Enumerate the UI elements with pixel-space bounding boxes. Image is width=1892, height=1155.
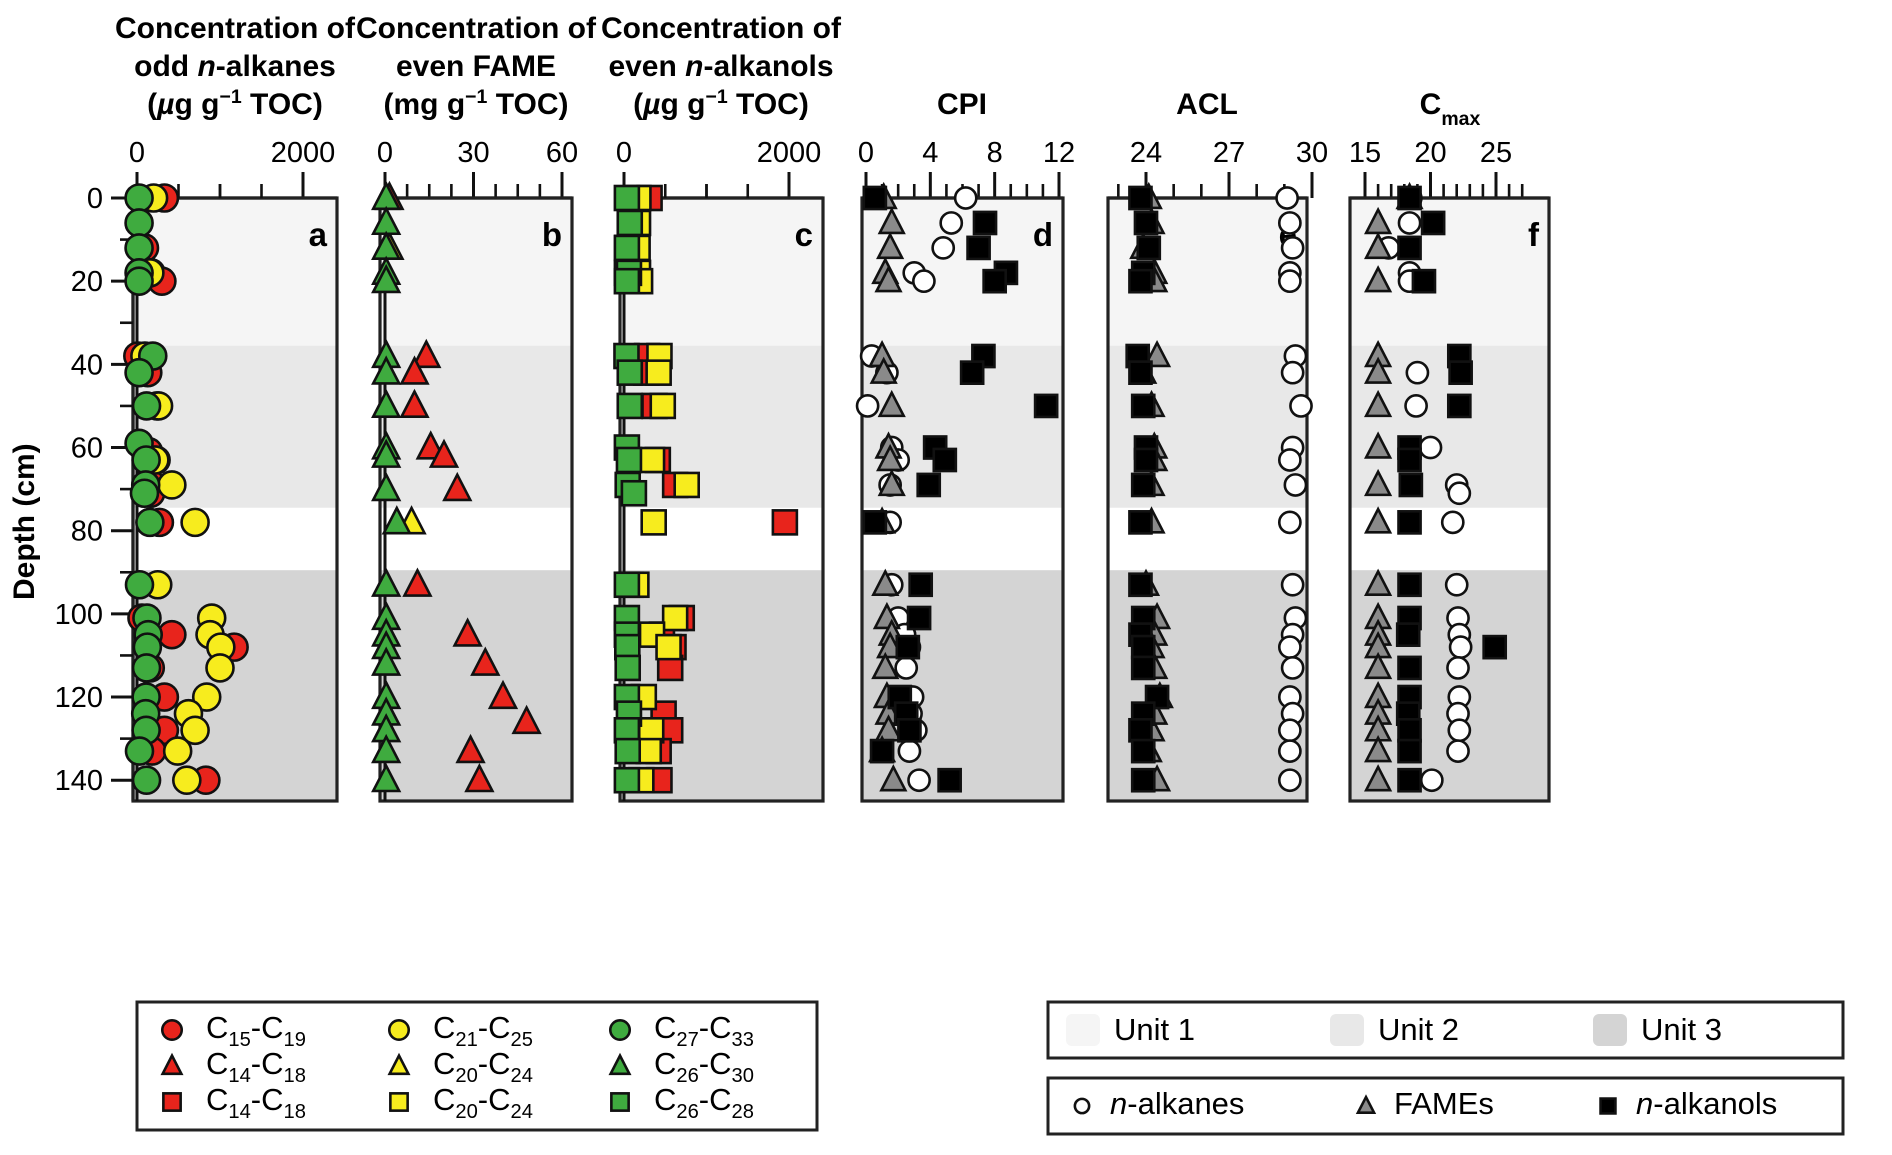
data-point-c-2-11 — [622, 481, 646, 505]
data-point-d-0-4 — [913, 271, 934, 292]
panel-title-line-c-2: (µg g−1 TOC) — [633, 86, 809, 121]
data-point-f-2-5 — [1450, 362, 1472, 384]
data-point-c-2-0 — [615, 186, 639, 210]
data-point-d-2-14 — [897, 636, 919, 658]
data-point-f-2-8 — [1399, 449, 1421, 471]
xtick-label-d-0: 0 — [858, 137, 874, 169]
data-point-c-2-9 — [617, 448, 641, 472]
data-point-e-0-15 — [1279, 637, 1300, 658]
data-point-a-2-21 — [126, 738, 153, 765]
panel-title-b: Concentration ofeven FAME(mg g−1 TOC) — [356, 12, 597, 121]
data-point-f-0-20 — [1421, 770, 1442, 791]
series-c-C26-C28 — [614, 186, 645, 792]
data-point-f-0-7 — [1420, 437, 1441, 458]
data-point-a-1-6 — [182, 509, 209, 536]
data-point-f-2-6 — [1448, 395, 1470, 417]
legend-marker-C21-C25-3 — [389, 1020, 408, 1039]
data-point-a-2-6 — [126, 359, 153, 386]
data-point-a-1-15 — [164, 738, 191, 765]
data-point-e-0-11 — [1279, 512, 1300, 533]
data-point-c-1-12 — [663, 606, 687, 630]
data-point-f-2-9 — [1400, 474, 1422, 496]
data-point-d-0-21 — [908, 770, 929, 791]
panel-title-line-a-0: Concentration of — [115, 12, 356, 45]
data-point-e-2-4 — [1129, 270, 1151, 292]
data-point-d-0-16 — [896, 657, 917, 678]
data-point-e-0-20 — [1279, 741, 1300, 762]
data-point-a-2-17 — [133, 654, 160, 681]
data-point-f-0-11 — [1446, 574, 1467, 595]
unit-band-b-3 — [380, 570, 572, 801]
data-point-e-2-12 — [1129, 574, 1151, 596]
xtick-label-f-15: 15 — [1349, 137, 1381, 169]
data-point-d-2-0 — [864, 187, 886, 209]
data-point-c-2-7 — [618, 394, 642, 418]
legend-proxy-marker-0 — [1075, 1099, 1089, 1113]
data-point-f-0-19 — [1447, 741, 1468, 762]
data-point-c-2-6 — [618, 361, 642, 385]
biomarker-depth-figure: 02000030600200004812242730152025Concentr… — [0, 0, 1892, 1155]
legend-marker-C26-C28-8 — [611, 1093, 628, 1110]
legend-marker-C15-C19-0 — [162, 1020, 181, 1039]
legend-marker-C27-C33-6 — [610, 1020, 629, 1039]
data-point-f-0-9 — [1449, 483, 1470, 504]
xtick-label-e-30: 30 — [1296, 137, 1328, 169]
data-point-d-2-12 — [910, 574, 932, 596]
xtick-label-f-25: 25 — [1480, 137, 1512, 169]
figure-root: 02000030600200004812242730152025Concentr… — [0, 0, 1892, 1155]
panel-title-line-b-0: Concentration of — [356, 12, 597, 45]
data-point-a-2-13 — [126, 571, 153, 598]
data-point-d-0-7 — [857, 395, 878, 416]
data-point-e-0-21 — [1279, 770, 1300, 791]
ytick-label-120: 120 — [55, 682, 103, 714]
legend-unit-label-0: Unit 1 — [1114, 1012, 1195, 1047]
panel-letter-b: b — [542, 216, 562, 253]
xtick-label-c-2000: 2000 — [757, 137, 822, 169]
data-point-e-2-7 — [1132, 395, 1154, 417]
data-point-c-2-21 — [615, 768, 639, 792]
panel-title-line-a-1: odd n-alkanes — [134, 50, 336, 83]
data-point-f-2-20 — [1399, 769, 1421, 791]
data-point-c-1-10 — [642, 510, 666, 534]
data-point-d-0-2 — [933, 237, 954, 258]
data-point-a-2-2 — [126, 234, 153, 261]
data-point-f-0-6 — [1406, 395, 1427, 416]
data-point-a-2-9 — [133, 446, 160, 473]
panel-title-line-d-0: CPI — [937, 88, 987, 121]
data-point-e-0-7 — [1290, 395, 1311, 416]
data-point-c-2-4 — [615, 269, 639, 293]
panel-letter-a: a — [309, 216, 328, 253]
data-point-e-0-19 — [1279, 720, 1300, 741]
xtick-label-e-24: 24 — [1130, 137, 1162, 169]
data-point-f-0-5 — [1407, 362, 1428, 383]
legend-marker-C14-C18-2 — [163, 1093, 180, 1110]
data-point-f-2-14 — [1484, 636, 1506, 658]
legend-proxy-marker-2 — [1601, 1099, 1616, 1114]
data-point-f-2-18 — [1399, 719, 1421, 741]
data-point-f-2-15 — [1399, 657, 1421, 679]
legend-proxy-label-0: n-alkanes — [1110, 1086, 1244, 1121]
data-point-f-2-19 — [1399, 740, 1421, 762]
data-point-d-0-20 — [899, 741, 920, 762]
data-point-f-2-3 — [1413, 270, 1435, 292]
data-point-c-2-12 — [615, 573, 639, 597]
legend-proxies: n-alkanesFAMEsn-alkanols — [1048, 1078, 1843, 1134]
ytick-label-80: 80 — [71, 516, 103, 548]
data-point-e-0-2 — [1282, 237, 1303, 258]
panel-letter-f: f — [1528, 216, 1540, 253]
data-point-f-0-14 — [1450, 637, 1471, 658]
panel-title-line-e-0: ACL — [1176, 88, 1238, 121]
panel-title-f: Cmax — [1420, 88, 1481, 130]
ytick-label-140: 140 — [55, 765, 103, 797]
data-point-c-2-1 — [618, 211, 642, 235]
data-point-e-0-0 — [1277, 187, 1298, 208]
xtick-label-c-0: 0 — [616, 137, 632, 169]
panel-title-c: Concentration ofeven n-alkanols(µg g−1 T… — [601, 12, 842, 121]
data-point-d-0-0 — [955, 187, 976, 208]
data-point-d-2-19 — [939, 769, 961, 791]
data-point-d-2-10 — [918, 474, 940, 496]
xaxis-b: 03060 — [377, 137, 578, 198]
data-point-f-2-0 — [1399, 187, 1421, 209]
data-point-e-0-12 — [1282, 574, 1303, 595]
data-point-d-2-9 — [934, 449, 956, 471]
data-point-e-0-6 — [1282, 362, 1303, 383]
ytick-label-100: 100 — [55, 599, 103, 631]
yaxis-title: Depth (cm) — [8, 443, 41, 600]
data-point-c-2-20 — [616, 739, 640, 763]
data-point-f-2-13 — [1397, 624, 1419, 646]
xaxis-minor-extra-a — [179, 184, 262, 198]
ytick-label-0: 0 — [87, 183, 103, 215]
data-point-e-2-21 — [1132, 769, 1154, 791]
data-point-c-0-9 — [773, 510, 797, 534]
data-point-d-2-7 — [1035, 395, 1057, 417]
legend-unit-label-2: Unit 3 — [1641, 1012, 1722, 1047]
data-point-a-2-4 — [126, 268, 153, 295]
data-point-d-2-11 — [864, 511, 886, 533]
data-point-a-1-16 — [173, 767, 200, 794]
data-point-e-0-9 — [1279, 449, 1300, 470]
data-point-a-2-11 — [131, 480, 158, 507]
legend-marker-C20-C24-5 — [390, 1093, 407, 1110]
data-point-f-2-10 — [1399, 511, 1421, 533]
panel-title-line-a-2: (µg g−1 TOC) — [147, 86, 323, 121]
data-point-c-1-7 — [651, 394, 675, 418]
data-point-a-2-22 — [133, 767, 160, 794]
data-point-e-0-16 — [1282, 657, 1303, 678]
data-point-e-2-1 — [1135, 212, 1157, 234]
ytick-label-60: 60 — [71, 433, 103, 465]
xaxis-minor-extra-c — [665, 184, 748, 198]
data-point-f-0-10 — [1442, 512, 1463, 533]
xtick-label-d-8: 8 — [987, 137, 1003, 169]
data-point-c-2-2 — [615, 236, 639, 260]
data-point-d-2-13 — [908, 607, 930, 629]
xtick-label-b-0: 0 — [377, 137, 393, 169]
data-point-c-1-6 — [647, 361, 671, 385]
data-point-c-2-16 — [616, 656, 640, 680]
legend-proxy-label-2: n-alkanols — [1636, 1086, 1777, 1121]
data-point-f-2-2 — [1399, 237, 1421, 259]
ytick-label-20: 20 — [71, 266, 103, 298]
data-point-e-2-16 — [1132, 657, 1154, 679]
legend-unit-swatch-1 — [1330, 1014, 1364, 1046]
legend-unit-swatch-0 — [1066, 1014, 1100, 1046]
data-point-a-2-1 — [126, 209, 153, 236]
data-point-f-0-15 — [1447, 657, 1468, 678]
data-point-e-2-0 — [1129, 187, 1151, 209]
panel-title-d: CPI — [937, 88, 987, 121]
ytick-label-40: 40 — [71, 349, 103, 381]
panel-title-line-b-1: even FAME — [396, 50, 556, 83]
panel-letter-d: d — [1033, 216, 1053, 253]
xtick-label-d-12: 12 — [1043, 137, 1075, 169]
legend-compounds: C15-C19C14-C18C14-C18C21-C25C20-C24C20-C… — [137, 1002, 817, 1130]
panel-title-line-c-0: Concentration of — [601, 12, 842, 45]
panel-title-line-b-2: (mg g−1 TOC) — [384, 86, 569, 121]
data-point-f-2-11 — [1399, 574, 1421, 596]
depth-axis: 020406080100120140Depth (cm) — [8, 183, 133, 801]
xtick-label-b-30: 30 — [457, 137, 489, 169]
data-point-a-1-11 — [207, 654, 234, 681]
panel-b — [380, 198, 572, 801]
unit-band-e-3 — [1108, 570, 1307, 801]
xtick-label-b-60: 60 — [546, 137, 578, 169]
xtick-label-f-20: 20 — [1414, 137, 1446, 169]
xaxis-f: 152025 — [1349, 137, 1549, 198]
xtick-label-a-2000: 2000 — [271, 137, 336, 169]
xtick-label-a-0: 0 — [129, 137, 145, 169]
data-point-a-2-7 — [133, 392, 160, 419]
data-point-f-0-1 — [1399, 212, 1420, 233]
xtick-label-d-4: 4 — [922, 137, 938, 169]
data-point-d-2-6 — [961, 362, 983, 384]
data-point-d-2-2 — [968, 237, 990, 259]
data-point-d-2-1 — [974, 212, 996, 234]
panel-title-a: Concentration ofodd n-alkanes(µg g−1 TOC… — [115, 12, 356, 121]
data-point-d-0-1 — [941, 212, 962, 233]
data-point-a-2-12 — [136, 509, 163, 536]
data-point-a-1-5 — [158, 471, 185, 498]
xtick-label-e-27: 27 — [1213, 137, 1245, 169]
data-point-e-2-6 — [1129, 362, 1151, 384]
data-point-f-2-1 — [1422, 212, 1444, 234]
data-point-e-2-15 — [1132, 636, 1154, 658]
data-point-e-0-1 — [1279, 212, 1300, 233]
data-point-e-2-20 — [1132, 740, 1154, 762]
data-point-e-0-10 — [1285, 474, 1306, 495]
panel-letter-c: c — [795, 216, 813, 253]
data-point-e-2-9 — [1135, 449, 1157, 471]
data-point-d-2-18 — [871, 740, 893, 762]
data-point-e-2-2 — [1138, 237, 1160, 259]
data-point-f-0-18 — [1449, 720, 1470, 741]
data-point-c-1-14 — [657, 635, 681, 659]
legend-unit-swatch-2 — [1593, 1014, 1627, 1046]
legend-unit-label-1: Unit 2 — [1378, 1012, 1459, 1047]
data-point-e-2-19 — [1129, 719, 1151, 741]
data-point-a-2-0 — [126, 185, 153, 212]
data-point-e-0-4 — [1279, 271, 1300, 292]
data-point-c-1-9 — [675, 473, 699, 497]
data-point-d-2-17 — [898, 719, 920, 741]
legend-proxy-label-1: FAMEs — [1394, 1086, 1494, 1121]
data-point-e-2-11 — [1129, 511, 1151, 533]
panel-title-line-f-0: Cmax — [1420, 88, 1481, 130]
panel-title-line-c-1: even n-alkanols — [608, 50, 833, 83]
data-point-d-2-4 — [984, 270, 1006, 292]
panel-title-e: ACL — [1176, 88, 1238, 121]
data-point-c-1-8 — [640, 448, 664, 472]
legend-units: Unit 1Unit 2Unit 3 — [1048, 1002, 1843, 1058]
data-point-e-2-10 — [1132, 474, 1154, 496]
